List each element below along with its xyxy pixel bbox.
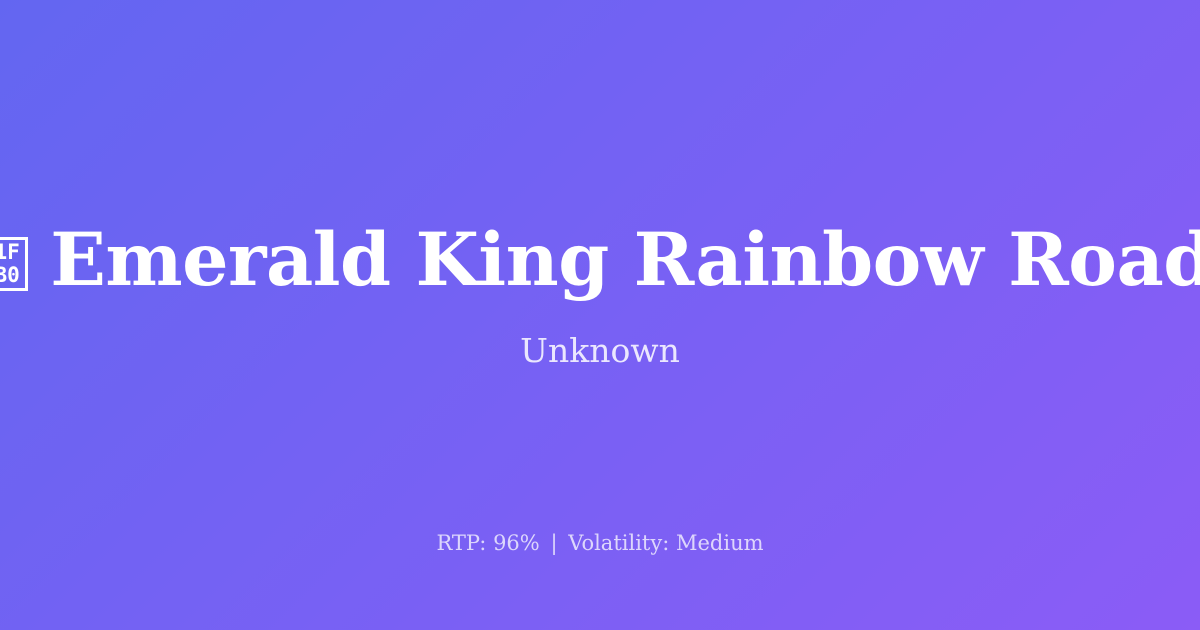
missing-glyph-tofu-icon: 1F B0 (0, 228, 28, 292)
og-image-canvas: { "theme": { "gradient_from": "#6366f1",… (0, 0, 1200, 630)
tofu-codepoint-high: 1F (0, 241, 25, 264)
tofu-codepoint-low: B0 (0, 264, 25, 287)
volatility-value: Medium (676, 531, 764, 555)
meta-separator: | (546, 531, 561, 555)
game-meta-line: RTP: 96% | Volatility: Medium (0, 531, 1200, 556)
tofu-box: 1F B0 (0, 237, 28, 291)
title-row: 1F B0 Emerald King Rainbow Road (0, 222, 1200, 299)
page-title: Emerald King Rainbow Road (50, 222, 1200, 299)
volatility-label: Volatility: (568, 531, 669, 555)
rtp-value: 96% (493, 531, 540, 555)
page-subtitle: Unknown (520, 331, 680, 371)
rtp-label: RTP: (436, 531, 486, 555)
